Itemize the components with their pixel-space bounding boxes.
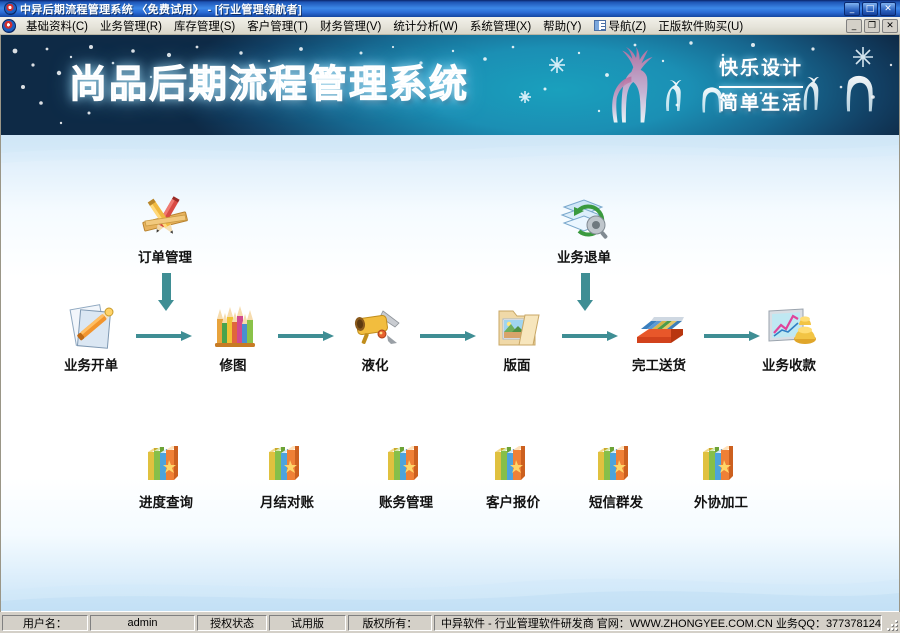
flow-business-return-label: 业务退单 xyxy=(524,246,644,266)
flow-business-billing[interactable]: 业务开单 xyxy=(31,303,151,374)
snowflake-icon xyxy=(519,47,873,103)
flow-sms-broadcast[interactable]: 短信群发 xyxy=(556,440,676,511)
picture-folder-icon xyxy=(457,303,577,349)
flow-account-management-label: 账务管理 xyxy=(346,491,466,511)
menu-inventory[interactable]: 库存管理(S) xyxy=(168,17,241,35)
navigation-canvas: 订单管理 xyxy=(1,135,899,611)
books-icon xyxy=(346,440,466,486)
flow-delivery-label: 完工送货 xyxy=(599,354,719,374)
flow-liquify[interactable]: 液化 xyxy=(315,303,435,374)
flow-payment-label: 业务收款 xyxy=(729,354,849,374)
books-icon xyxy=(453,440,573,486)
menu-navigation[interactable]: 导航(Z) xyxy=(588,17,653,35)
flow-delivery[interactable]: 完工送货 xyxy=(599,303,719,374)
flow-order-management-label: 订单管理 xyxy=(105,246,225,266)
flow-layout-label: 版面 xyxy=(457,354,577,374)
books-icon xyxy=(227,440,347,486)
pencil-ruler-icon xyxy=(105,195,225,241)
flow-account-management[interactable]: 账务管理 xyxy=(346,440,466,511)
flow-liquify-label: 液化 xyxy=(315,354,435,374)
mdi-minimize-button[interactable]: _ xyxy=(846,19,862,33)
status-user-value: admin xyxy=(90,615,195,631)
projector-icon xyxy=(315,303,435,349)
client-area: 尚品后期流程管理系统 快乐设计 简单生活 xyxy=(0,35,900,612)
flow-monthly-settlement[interactable]: 月结对账 xyxy=(227,440,347,511)
books-stack-icon xyxy=(599,303,719,349)
status-copyright-value: 中异软件 - 行业管理软件研发商 官网：WWW.ZHONGYEE.COM.CN … xyxy=(434,615,882,631)
color-pencils-icon xyxy=(173,303,293,349)
menu-finance[interactable]: 财务管理(V) xyxy=(314,17,387,35)
application-window: 中异后期流程管理系统 〈免费试用〉 - [行业管理领航者] _ □ ✕ 基础资料… xyxy=(0,0,900,633)
flow-layout[interactable]: 版面 xyxy=(457,303,577,374)
menu-basic-data[interactable]: 基础资料(C) xyxy=(20,17,94,35)
flow-sms-broadcast-label: 短信群发 xyxy=(556,491,676,511)
pen-document-icon xyxy=(31,303,151,349)
flow-retouch-label: 修图 xyxy=(173,354,293,374)
mdi-restore-button[interactable]: ❐ xyxy=(864,19,880,33)
window-controls: _ □ ✕ xyxy=(844,2,898,16)
app-globe-icon xyxy=(4,2,17,15)
blue-folders-refresh-icon xyxy=(524,195,644,241)
window-title: 中异后期流程管理系统 〈免费试用〉 - [行业管理领航者] xyxy=(20,1,302,17)
books-icon xyxy=(556,440,676,486)
flow-progress-query-label: 进度查询 xyxy=(106,491,226,511)
bottom-wave-decoration xyxy=(1,551,899,611)
tagline-divider xyxy=(719,86,803,88)
title-bar: 中异后期流程管理系统 〈免费试用〉 - [行业管理领航者] _ □ ✕ xyxy=(0,0,900,17)
mdi-close-button[interactable]: ✕ xyxy=(882,19,898,33)
tagline-line-1: 快乐设计 xyxy=(719,55,803,83)
books-icon xyxy=(106,440,226,486)
arrow-down-to-delivery xyxy=(577,273,593,311)
maximize-button[interactable]: □ xyxy=(862,2,878,16)
status-user-label: 用户名： xyxy=(2,615,88,631)
minimize-button[interactable]: _ xyxy=(844,2,860,16)
chart-money-icon xyxy=(729,303,849,349)
banner-title: 尚品后期流程管理系统 xyxy=(69,53,469,108)
flow-outsourced-processing[interactable]: 外协加工 xyxy=(661,440,781,511)
close-button[interactable]: ✕ xyxy=(880,2,896,16)
arrow-down-to-billing xyxy=(158,273,174,311)
banner-tagline: 快乐设计 简单生活 xyxy=(719,55,803,117)
status-license-value: 试用版 xyxy=(269,615,346,631)
flow-progress-query[interactable]: 进度查询 xyxy=(106,440,226,511)
flow-order-management[interactable]: 订单管理 xyxy=(105,195,225,266)
app-globe-icon xyxy=(2,19,16,33)
tagline-line-2: 简单生活 xyxy=(719,90,803,118)
menu-help[interactable]: 帮助(Y) xyxy=(537,17,587,35)
navigation-icon xyxy=(594,20,606,31)
status-copyright-label: 版权所有： xyxy=(348,615,432,631)
menu-navigation-label: 导航(Z) xyxy=(609,18,647,34)
status-bar: 用户名： admin 授权状态 试用版 版权所有： 中异软件 - 行业管理软件研… xyxy=(0,612,900,633)
flow-customer-quotation-label: 客户报价 xyxy=(453,491,573,511)
flow-monthly-settlement-label: 月结对账 xyxy=(227,491,347,511)
menu-buy-license[interactable]: 正版软件购买(U) xyxy=(652,17,749,35)
flow-business-return[interactable]: 业务退单 xyxy=(524,195,644,266)
menu-statistics[interactable]: 统计分析(W) xyxy=(387,17,464,35)
menu-bar: 基础资料(C) 业务管理(R) 库存管理(S) 客户管理(T) 财务管理(V) … xyxy=(0,17,900,35)
books-icon xyxy=(661,440,781,486)
flow-outsourced-processing-label: 外协加工 xyxy=(661,491,781,511)
flow-business-billing-label: 业务开单 xyxy=(31,354,151,374)
mdi-child-controls: _ ❐ ✕ xyxy=(846,19,900,33)
flow-customer-quotation[interactable]: 客户报价 xyxy=(453,440,573,511)
menu-customer[interactable]: 客户管理(T) xyxy=(241,17,314,35)
flow-retouch[interactable]: 修图 xyxy=(173,303,293,374)
top-wave-decoration xyxy=(1,135,899,175)
flow-payment[interactable]: 业务收款 xyxy=(729,303,849,374)
resize-grip[interactable] xyxy=(884,617,898,631)
menu-business[interactable]: 业务管理(R) xyxy=(94,17,168,35)
status-license-label: 授权状态 xyxy=(197,615,267,631)
banner: 尚品后期流程管理系统 快乐设计 简单生活 xyxy=(1,35,899,135)
menu-system[interactable]: 系统管理(X) xyxy=(464,17,537,35)
